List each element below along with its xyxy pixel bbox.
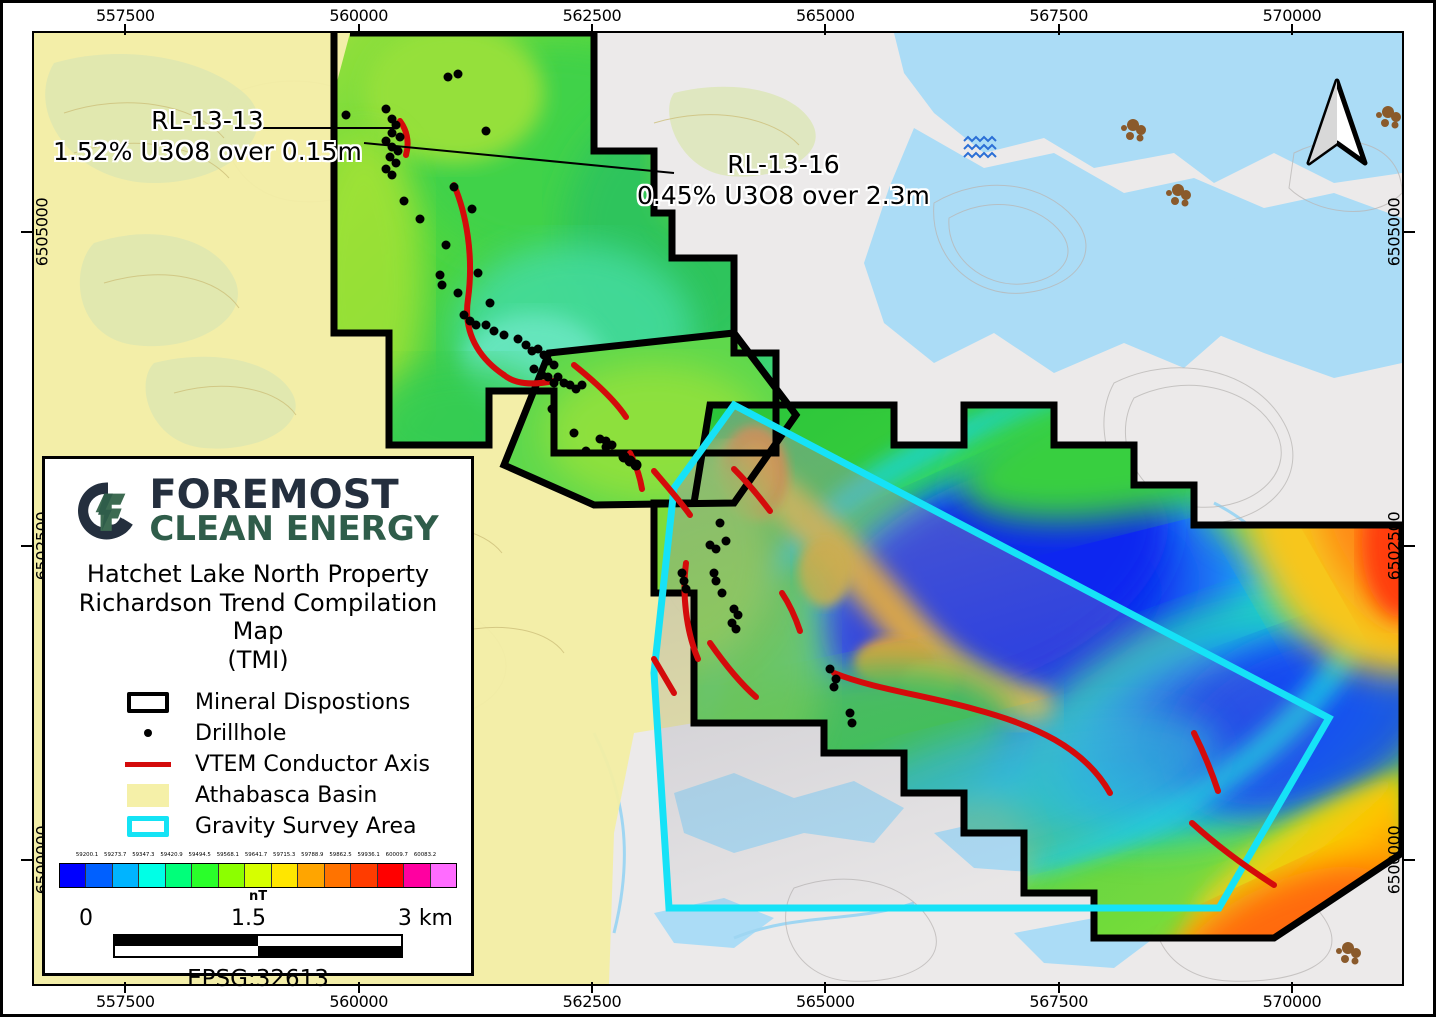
drillhole-dot-icon (109, 729, 187, 737)
x-axis-tick-label: 565000 (796, 6, 855, 25)
legend-item-mineral-dispositions: Mineral Dispostions (109, 687, 463, 718)
x-axis-tick (1291, 24, 1293, 35)
tmi-colorbar: 59200.159273.759347.359420.959494.559568… (53, 852, 463, 904)
colorbar-segment (139, 864, 165, 887)
scalebar-label-0: 0 (79, 906, 93, 931)
y-axis-tick-label: 6502500 (1384, 512, 1403, 580)
colorbar-segment (298, 864, 324, 887)
annotation-rl-13-16-id: RL-13-16 (637, 150, 930, 181)
x-axis-tick-label: 560000 (329, 6, 388, 25)
legend-label: Drillhole (187, 721, 286, 746)
y-axis-tick (21, 231, 32, 233)
vtem-conductor-line-icon (109, 762, 187, 767)
brand-name-bottom: CLEAN ENERGY (149, 514, 438, 546)
scalebar-cell (258, 936, 401, 946)
colorbar-tick-label: 59347.3 (132, 852, 154, 858)
x-axis-tick (1058, 982, 1060, 993)
x-axis-tick (124, 24, 126, 35)
colorbar-tick-labels: 59200.159273.759347.359420.959494.559568… (59, 852, 457, 863)
x-axis-tick-label: 557500 (96, 6, 155, 25)
y-axis-tick-label: 6500000 (1384, 826, 1403, 894)
y-axis-tick-label: 6505000 (33, 198, 52, 266)
y-axis-tick (1404, 545, 1415, 547)
colorbar-segment (219, 864, 245, 887)
colorbar-segment (166, 864, 192, 887)
legend-item-vtem-conductor-axis: VTEM Conductor Axis (109, 749, 463, 780)
scalebar-labels: 0 1.5 3 km (53, 906, 463, 932)
colorbar-segment (325, 864, 351, 887)
x-axis-tick (591, 24, 593, 35)
legend-label: Athabasca Basin (187, 783, 377, 808)
x-axis-tick-label: 560000 (329, 992, 388, 1011)
colorbar-tick-label: 59936.1 (358, 852, 380, 858)
map-title: Hatchet Lake North Property Richardson T… (53, 560, 463, 675)
colorbar-tick-label: 59200.1 (76, 852, 98, 858)
legend-panel: FOREMOST CLEAN ENERGY Hatchet Lake North… (42, 456, 474, 976)
legend-item-drillhole: Drillhole (109, 718, 463, 749)
map-figure: RL-13-13 1.52% U3O8 over 0.15m RL-13-16 … (0, 0, 1436, 1017)
colorbar-tick-label: 59494.5 (189, 852, 211, 858)
x-axis-tick-label: 567500 (1029, 992, 1088, 1011)
y-axis-tick (21, 545, 32, 547)
foremost-logo-icon (77, 480, 139, 542)
x-axis-tick-label: 567500 (1029, 6, 1088, 25)
brand-logo: FOREMOST CLEAN ENERGY (53, 477, 463, 546)
x-axis-tick-label: 557500 (96, 992, 155, 1011)
y-axis-tick-label: 6505000 (1384, 198, 1403, 266)
colorbar-segment (60, 864, 86, 887)
annotation-rl-13-16-grade: 0.45% U3O8 over 2.3m (637, 181, 930, 212)
colorbar-segment (431, 864, 456, 887)
colorbar-tick-label: 59568.1 (217, 852, 239, 858)
colorbar-tick-label: 59420.9 (160, 852, 182, 858)
x-axis-tick (358, 24, 360, 35)
legend-label: Mineral Dispostions (187, 690, 410, 715)
legend-label: Gravity Survey Area (187, 814, 417, 839)
colorbar-segment (404, 864, 430, 887)
x-axis-tick-label: 570000 (1263, 992, 1322, 1011)
x-axis-tick (824, 982, 826, 993)
scalebar (113, 934, 403, 958)
map-title-line3: (TMI) (53, 646, 463, 675)
colorbar-ramp (59, 863, 457, 888)
colorbar-segment (86, 864, 112, 887)
legend-item-athabasca-basin: Athabasca Basin (109, 780, 463, 811)
colorbar-segment (272, 864, 298, 887)
colorbar-segment (245, 864, 271, 887)
colorbar-tick-label: 59641.7 (245, 852, 267, 858)
y-axis-tick (21, 859, 32, 861)
colorbar-segment (113, 864, 139, 887)
scalebar-cell (115, 946, 258, 956)
colorbar-segment (378, 864, 404, 887)
colorbar-tick-label: 59273.7 (104, 852, 126, 858)
x-axis-tick (1291, 982, 1293, 993)
colorbar-tick-label: 60009.7 (386, 852, 408, 858)
x-axis-tick-label: 570000 (1263, 6, 1322, 25)
scalebar-label-max: 3 km (398, 906, 453, 931)
x-axis-tick (1058, 24, 1060, 35)
annotation-rl-13-16: RL-13-16 0.45% U3O8 over 2.3m (637, 150, 930, 211)
legend-label: VTEM Conductor Axis (187, 752, 430, 777)
scalebar-cell (258, 946, 401, 956)
x-axis-tick-label: 562500 (563, 6, 622, 25)
colorbar-unit: nT (59, 889, 457, 904)
colorbar-tick-label: 59788.9 (301, 852, 323, 858)
colorbar-segment (351, 864, 377, 887)
y-axis-tick (1404, 859, 1415, 861)
annotation-rl-13-13-grade: 1.52% U3O8 over 0.15m (53, 137, 362, 168)
x-axis-tick-label: 562500 (563, 992, 622, 1011)
annotation-rl-13-13: RL-13-13 1.52% U3O8 over 0.15m (53, 106, 362, 167)
legend-items: Mineral Dispostions Drillhole VTEM Condu… (53, 687, 463, 842)
scalebar-label-mid: 1.5 (231, 906, 266, 931)
colorbar-segment (192, 864, 218, 887)
legend-item-gravity-survey-area: Gravity Survey Area (109, 811, 463, 842)
scalebar-cell (115, 936, 258, 946)
mineral-disposition-polygon-icon (109, 692, 187, 713)
annotation-rl-13-13-id: RL-13-13 (53, 106, 362, 137)
map-title-line1: Hatchet Lake North Property (53, 560, 463, 589)
x-axis-tick (824, 24, 826, 35)
gravity-survey-outline-icon (109, 816, 187, 837)
x-axis-tick-label: 565000 (796, 992, 855, 1011)
map-title-line2: Richardson Trend Compilation Map (53, 589, 463, 647)
y-axis-tick (1404, 231, 1415, 233)
colorbar-tick-label: 60083.2 (414, 852, 436, 858)
x-axis-tick (591, 982, 593, 993)
colorbar-tick-label: 59862.5 (329, 852, 351, 858)
athabasca-basin-fill-icon (109, 784, 187, 807)
epsg-code: EPSG:32613 (53, 966, 463, 992)
colorbar-tick-label: 59715.3 (273, 852, 295, 858)
